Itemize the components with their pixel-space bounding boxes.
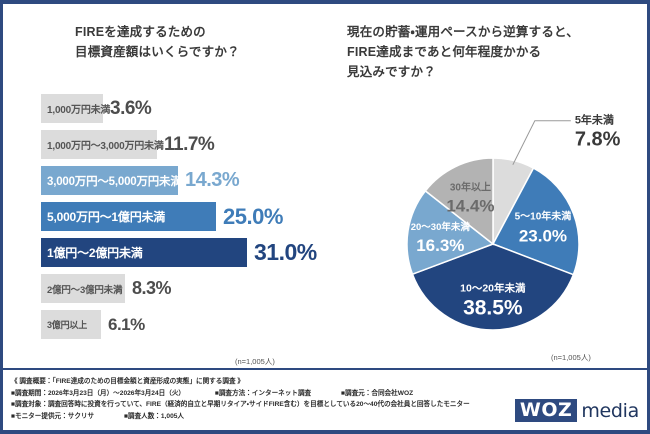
pie-chart-svg: 5～10年未満23.0%10～20年未満38.5%20～30年未満16.3%30… [333,4,649,372]
bar-category-label: 1億円～2億円未満 [47,244,143,261]
bar-value-label: 6.1% [108,315,145,335]
pie-chart-graphic: 5～10年未満23.0%10～20年未満38.5%20～30年未満16.3%30… [333,4,649,372]
pie-slice-text: 30年以上 [450,181,491,194]
woz-logo-word: media [581,401,639,421]
survey-footer: 《 調査概要：「FIRE達成のための目標金額と資産形成の実態」に関する調査 》 … [3,368,647,430]
bar-segment: 2億円～3億円未満 [41,274,125,303]
footer-line-method: ■調査期間：2026年3月23日（月）～2026年3月24日（火） ■調査方法：… [11,388,639,400]
bar-row: 1,000万円～3,000万円未満11.7% [41,128,331,161]
pie-slice-text: 23.0% [519,226,567,245]
pie-chart-panel: 現在の貯蓄・運用ペースから逆算すると、 FIRE達成まであと何年程度かかる 見込… [333,4,649,372]
bar-segment: 1,000万円未満 [41,94,103,123]
pie-slice-text: 7.8% [575,129,621,151]
footer-survey-method: ■調査方法：インターネット調査 [215,390,311,397]
bar-row: 3億円以上6.1% [41,308,331,341]
bar-value-label: 11.7% [164,134,214,156]
bar-category-label: 3,000万円～5,000万円未満 [47,173,182,189]
bar-category-label: 5,000万円～1億円未満 [47,208,165,225]
pie-slice-text: 5～10年未満 [515,209,572,222]
bar-chart-rows: 1,000万円未満3.6%1,000万円～3,000万円未満11.7%3,000… [41,92,331,344]
bar-segment: 3,000万円～5,000万円未満 [41,166,178,195]
bar-segment: 5,000万円～1億円未満 [41,202,216,231]
bar-category-label: 3億円以上 [47,318,87,331]
bar-chart-title: FIREを達成するための 目標資産額はいくらですか？ [75,22,240,62]
footer-monitor-provider: ■モニター提供元：サクリサ [11,413,94,420]
bar-row: 1億円～2億円未満31.0% [41,236,331,269]
footer-sample-count: ■調査人数：1,005人 [124,413,184,420]
bar-value-label: 25.0% [223,204,283,230]
bar-segment: 1,000万円～3,000万円未満 [41,130,157,159]
footer-survey-period: ■調査期間：2026年3月23日（月）～2026年3月24日（火） [11,390,185,397]
pie-slice-text: 5年未満 [575,113,614,127]
bar-row: 1,000万円未満3.6% [41,92,331,125]
infographic-frame: FIREを達成するための 目標資産額はいくらですか？ 1,000万円未満3.6%… [0,0,650,434]
footer-survey-source: ■調査元：合同会社WOZ [341,390,413,397]
bar-value-label: 8.3% [132,278,171,299]
bar-category-label: 1,000万円～3,000万円未満 [47,137,164,152]
pie-slice-text: 16.3% [416,236,464,255]
bar-row: 5,000万円～1億円未満25.0% [41,200,331,233]
bar-row: 3,000万円～5,000万円未満14.3% [41,164,331,197]
bar-chart-sample-note: (n=1,005人) [235,356,275,367]
bar-chart-panel: FIREを達成するための 目標資産額はいくらですか？ 1,000万円未満3.6%… [3,4,333,372]
bar-chart-title-line2: 目標資産額はいくらですか？ [75,45,240,59]
bar-segment: 1億円～2億円未満 [41,238,247,267]
bar-category-label: 2億円～3億円未満 [47,282,122,296]
pie-slice-text: 20～30年未満 [411,221,471,233]
footer-line-overview: 《 調査概要：「FIRE達成のための目標金額と資産形成の実態」に関する調査 》 [11,376,639,388]
pie-callout-leader-line [513,121,571,165]
woz-logo-mark: WOZ [515,399,577,422]
bar-value-label: 3.6% [110,98,151,120]
bar-value-label: 31.0% [254,239,317,266]
pie-slice-text: 38.5% [463,297,523,320]
bar-segment: 3億円以上 [41,310,101,339]
bar-value-label: 14.3% [185,169,239,192]
pie-slice-text: 10～20年未満 [460,282,526,295]
pie-chart-sample-note: (n=1,005人) [551,352,591,363]
bar-category-label: 1,000万円未満 [47,101,110,116]
bar-chart-title-line1: FIREを達成するための [75,25,206,39]
bar-row: 2億円～3億円未満8.3% [41,272,331,305]
woz-media-logo: WOZ media [515,399,639,422]
pie-slice-text: 14.4% [446,197,494,216]
